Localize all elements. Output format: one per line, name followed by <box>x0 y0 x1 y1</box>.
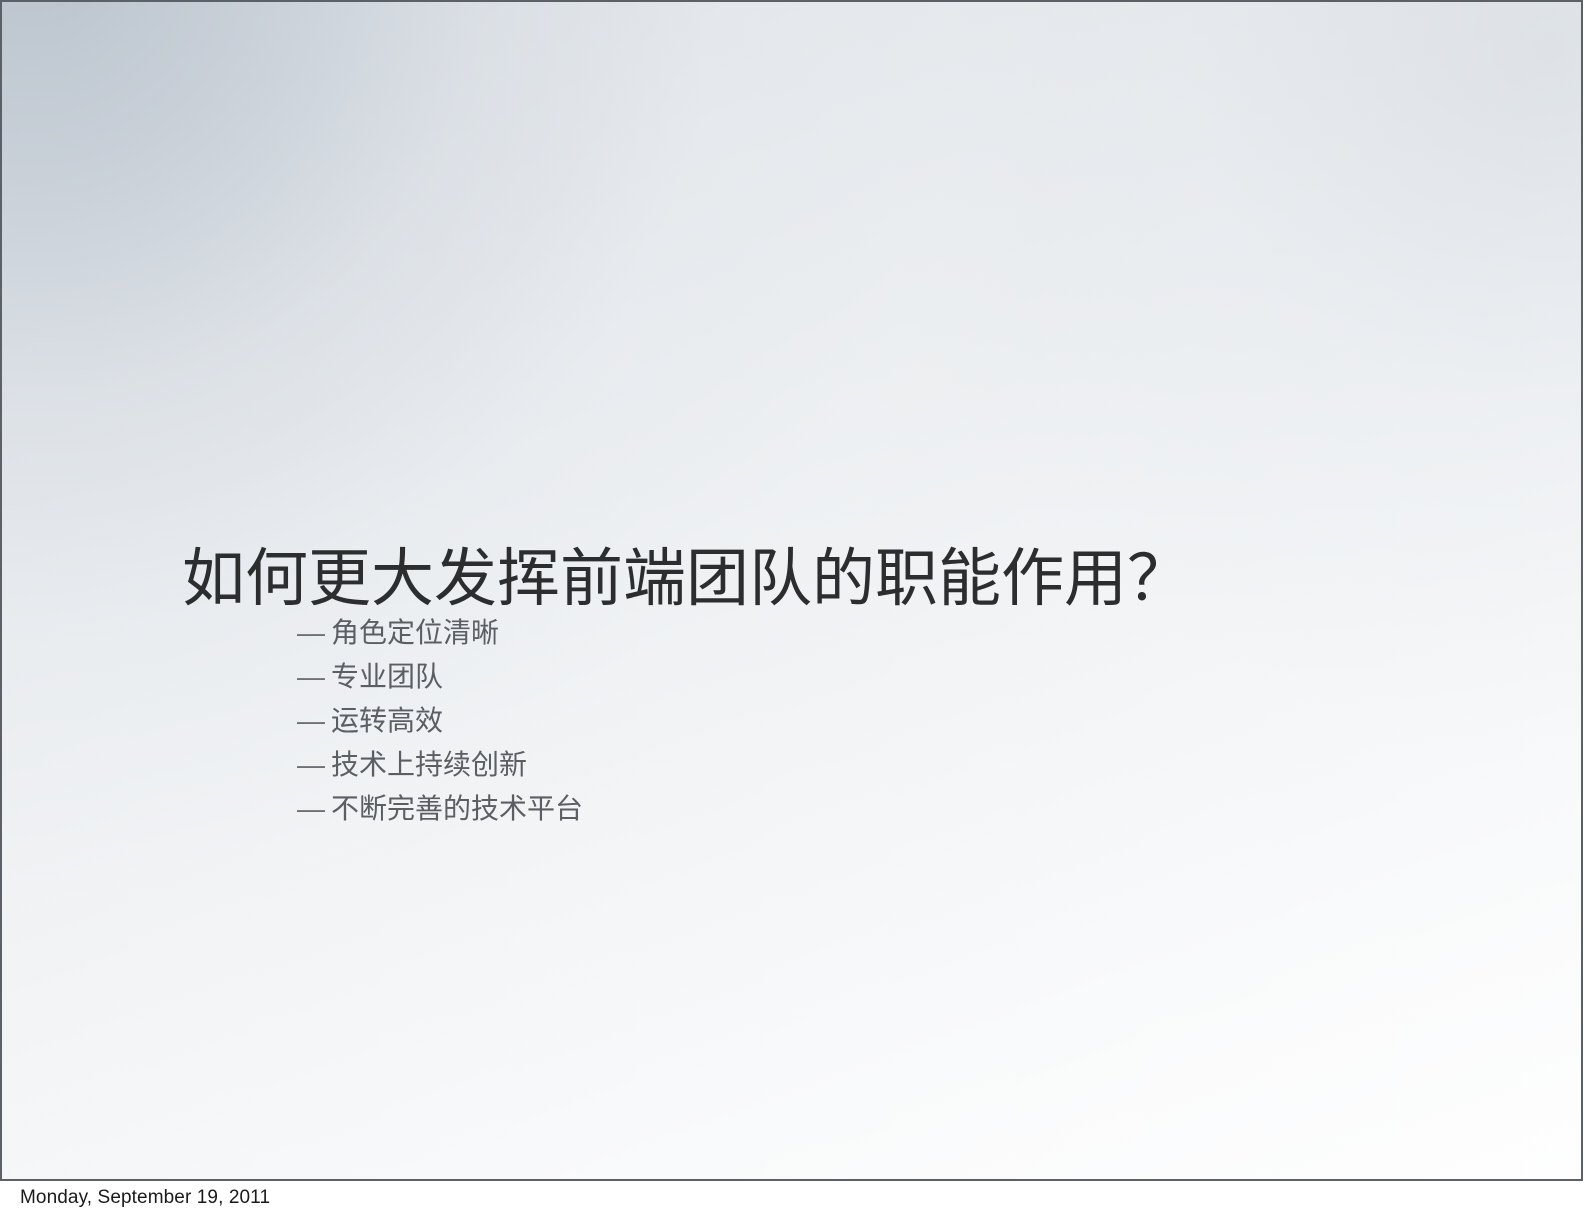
bullet-dash-icon: — <box>297 743 331 787</box>
bullet-dash-icon: — <box>297 699 331 743</box>
footer-date: Monday, September 19, 2011 <box>20 1186 270 1210</box>
bullet-dash-icon: — <box>297 787 331 831</box>
bullet-dash-icon: — <box>297 655 331 699</box>
presentation-slide: 如何更大发挥前端团队的职能作用？ — 角色定位清晰 — 专业团队 — 运转高效 … <box>0 0 1583 1181</box>
list-item-label: 不断完善的技术平台 <box>331 787 583 831</box>
list-item: — 运转高效 <box>297 699 583 743</box>
slide-title: 如何更大发挥前端团队的职能作用？ <box>182 544 1190 615</box>
slide-content: 如何更大发挥前端团队的职能作用？ — 角色定位清晰 — 专业团队 — 运转高效 … <box>2 2 1581 1179</box>
list-item: — 角色定位清晰 <box>297 611 583 655</box>
slide-page: 如何更大发挥前端团队的职能作用？ — 角色定位清晰 — 专业团队 — 运转高效 … <box>0 0 1587 1221</box>
list-item: — 不断完善的技术平台 <box>297 787 583 831</box>
bullet-list: — 角色定位清晰 — 专业团队 — 运转高效 — 技术上持续创新 — <box>297 611 583 831</box>
list-item-label: 角色定位清晰 <box>331 611 499 655</box>
list-item-label: 技术上持续创新 <box>331 743 527 787</box>
bullet-dash-icon: — <box>297 611 331 655</box>
list-item: — 技术上持续创新 <box>297 743 583 787</box>
list-item-label: 专业团队 <box>331 655 443 699</box>
list-item-label: 运转高效 <box>331 699 443 743</box>
list-item: — 专业团队 <box>297 655 583 699</box>
